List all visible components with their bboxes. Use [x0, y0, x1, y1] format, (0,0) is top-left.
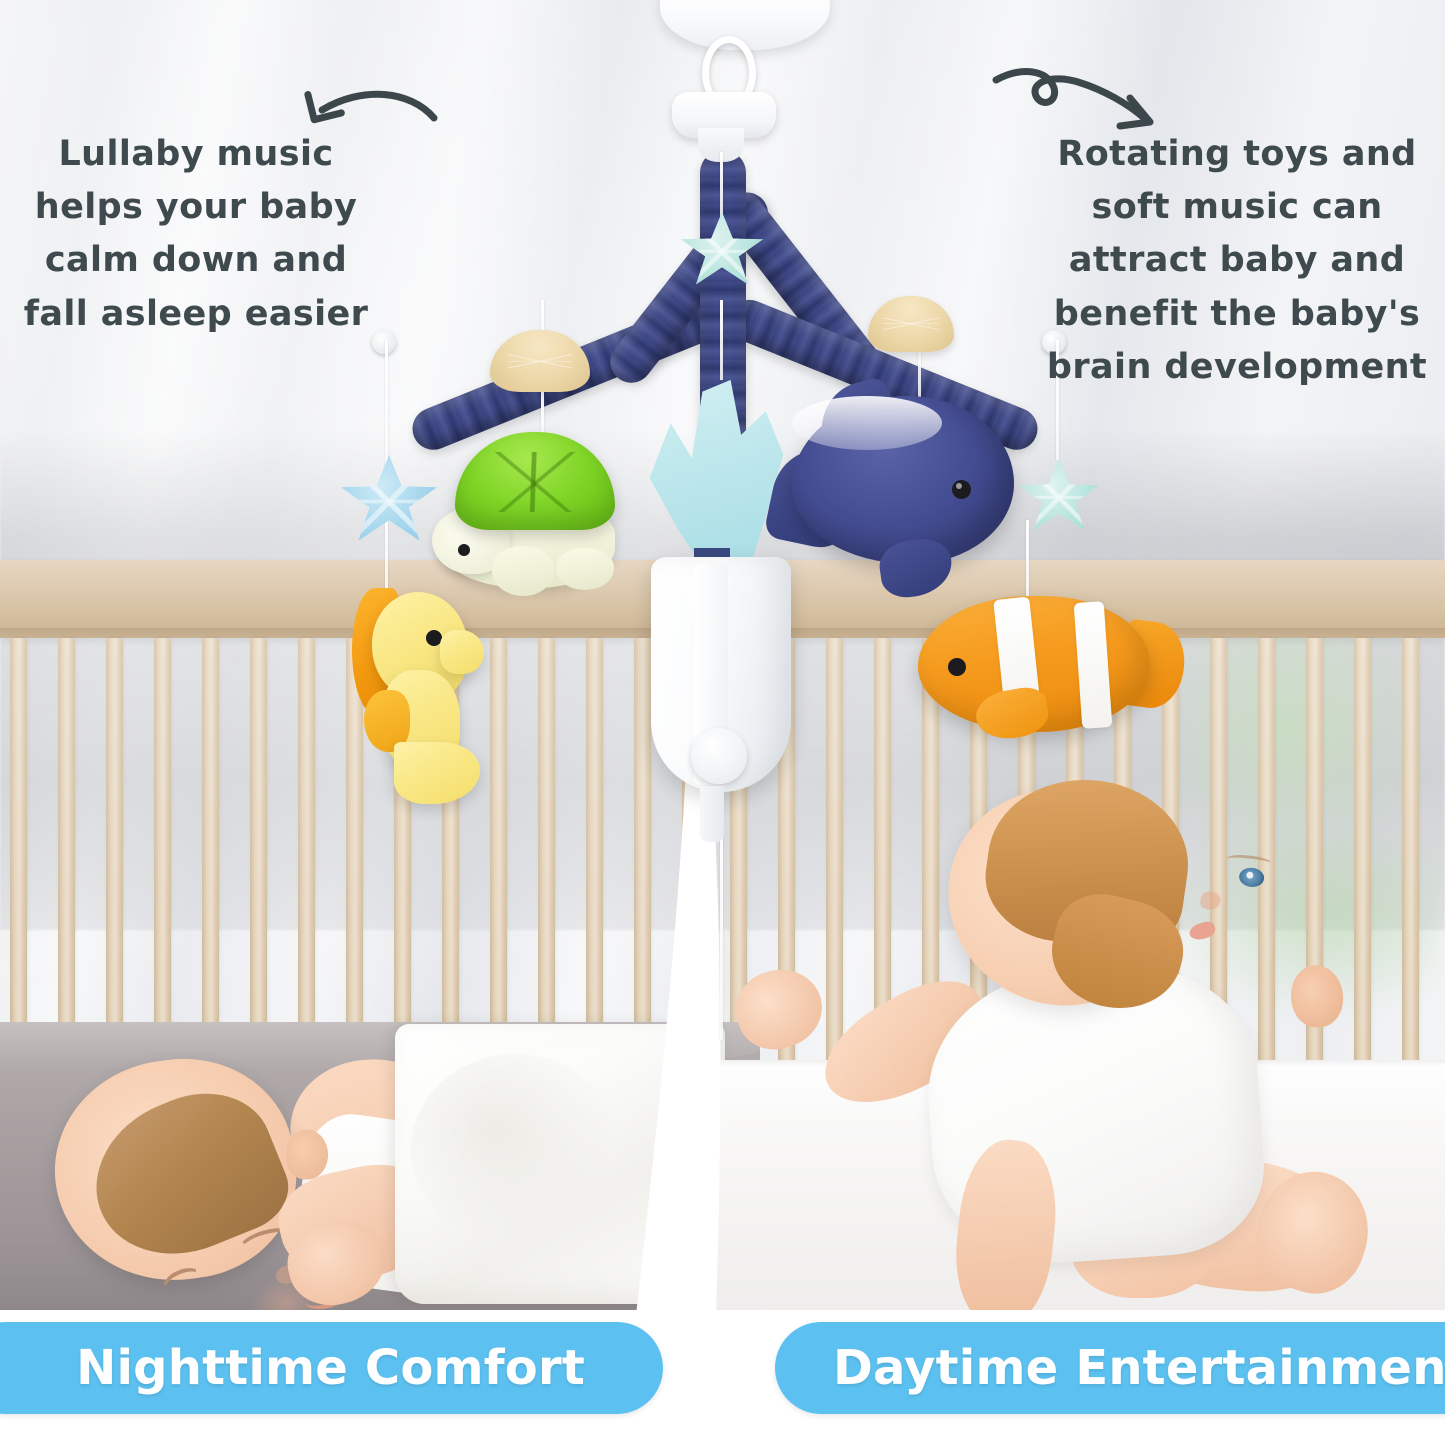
callout-left-line-3: calm down and	[16, 234, 376, 287]
toy-string-starfish-mint-top	[720, 152, 723, 220]
toy-turtle-flipper-back	[556, 548, 614, 590]
sitting-baby-ear	[1290, 964, 1344, 1028]
clownfish-stripe-2	[1074, 601, 1113, 729]
toy-starfish-blue[interactable]	[340, 455, 438, 547]
product-feature-image: Lullaby music helps your baby calm down …	[0, 0, 1445, 1445]
toy-seahorse-snout	[440, 630, 484, 674]
starfish-stitching-right	[1018, 458, 1100, 536]
shark-belly	[792, 396, 942, 450]
clownfish-eye	[948, 658, 966, 676]
turtle-eye	[458, 544, 470, 556]
turtle-shell-pattern	[477, 452, 592, 513]
sitting-baby-hand	[726, 959, 832, 1060]
sitting-baby-mouth	[1187, 919, 1217, 942]
toy-turtle-flipper-front	[492, 546, 554, 596]
toy-shell-beige-left[interactable]	[490, 330, 590, 392]
music-box-stem	[700, 786, 724, 842]
toy-starfish-mint-right[interactable]	[1018, 458, 1100, 536]
callout-right-line-4: benefit the baby's	[1037, 288, 1437, 341]
callout-left-line-4: fall asleep easier	[16, 288, 376, 341]
rotating-toys-callout: Rotating toys and soft music can attract…	[1037, 128, 1437, 394]
callout-right-line-2: soft music can	[1037, 181, 1437, 234]
daytime-entertainment-label: Daytime Entertainment	[833, 1340, 1445, 1396]
toy-string-coral	[720, 300, 723, 380]
shark-eye-gloss	[956, 483, 962, 489]
lullaby-music-callout: Lullaby music helps your baby calm down …	[16, 128, 376, 341]
daytime-entertainment-banner: Daytime Entertainment	[775, 1322, 1445, 1414]
white-blanket	[395, 1024, 725, 1304]
toy-shark-body[interactable]	[792, 396, 1014, 564]
toy-seahorse-tail	[394, 742, 480, 804]
callout-right-line-1: Rotating toys and	[1037, 128, 1437, 181]
toy-shell-beige-right[interactable]	[868, 296, 954, 352]
toy-turtle-shell[interactable]	[455, 432, 615, 530]
nighttime-comfort-banner: Nighttime Comfort	[0, 1322, 663, 1414]
callout-right-line-5: brain development	[1037, 341, 1437, 394]
sleeping-baby-scene	[0, 1000, 760, 1310]
starfish-stitching	[340, 455, 438, 547]
callout-right-line-3: attract baby and	[1037, 234, 1437, 287]
callout-left-line-1: Lullaby music	[16, 128, 376, 181]
music-box-knob[interactable]	[691, 728, 747, 784]
callout-left-line-2: helps your baby	[16, 181, 376, 234]
nighttime-comfort-label: Nighttime Comfort	[76, 1340, 585, 1396]
shark-eye	[952, 480, 971, 499]
